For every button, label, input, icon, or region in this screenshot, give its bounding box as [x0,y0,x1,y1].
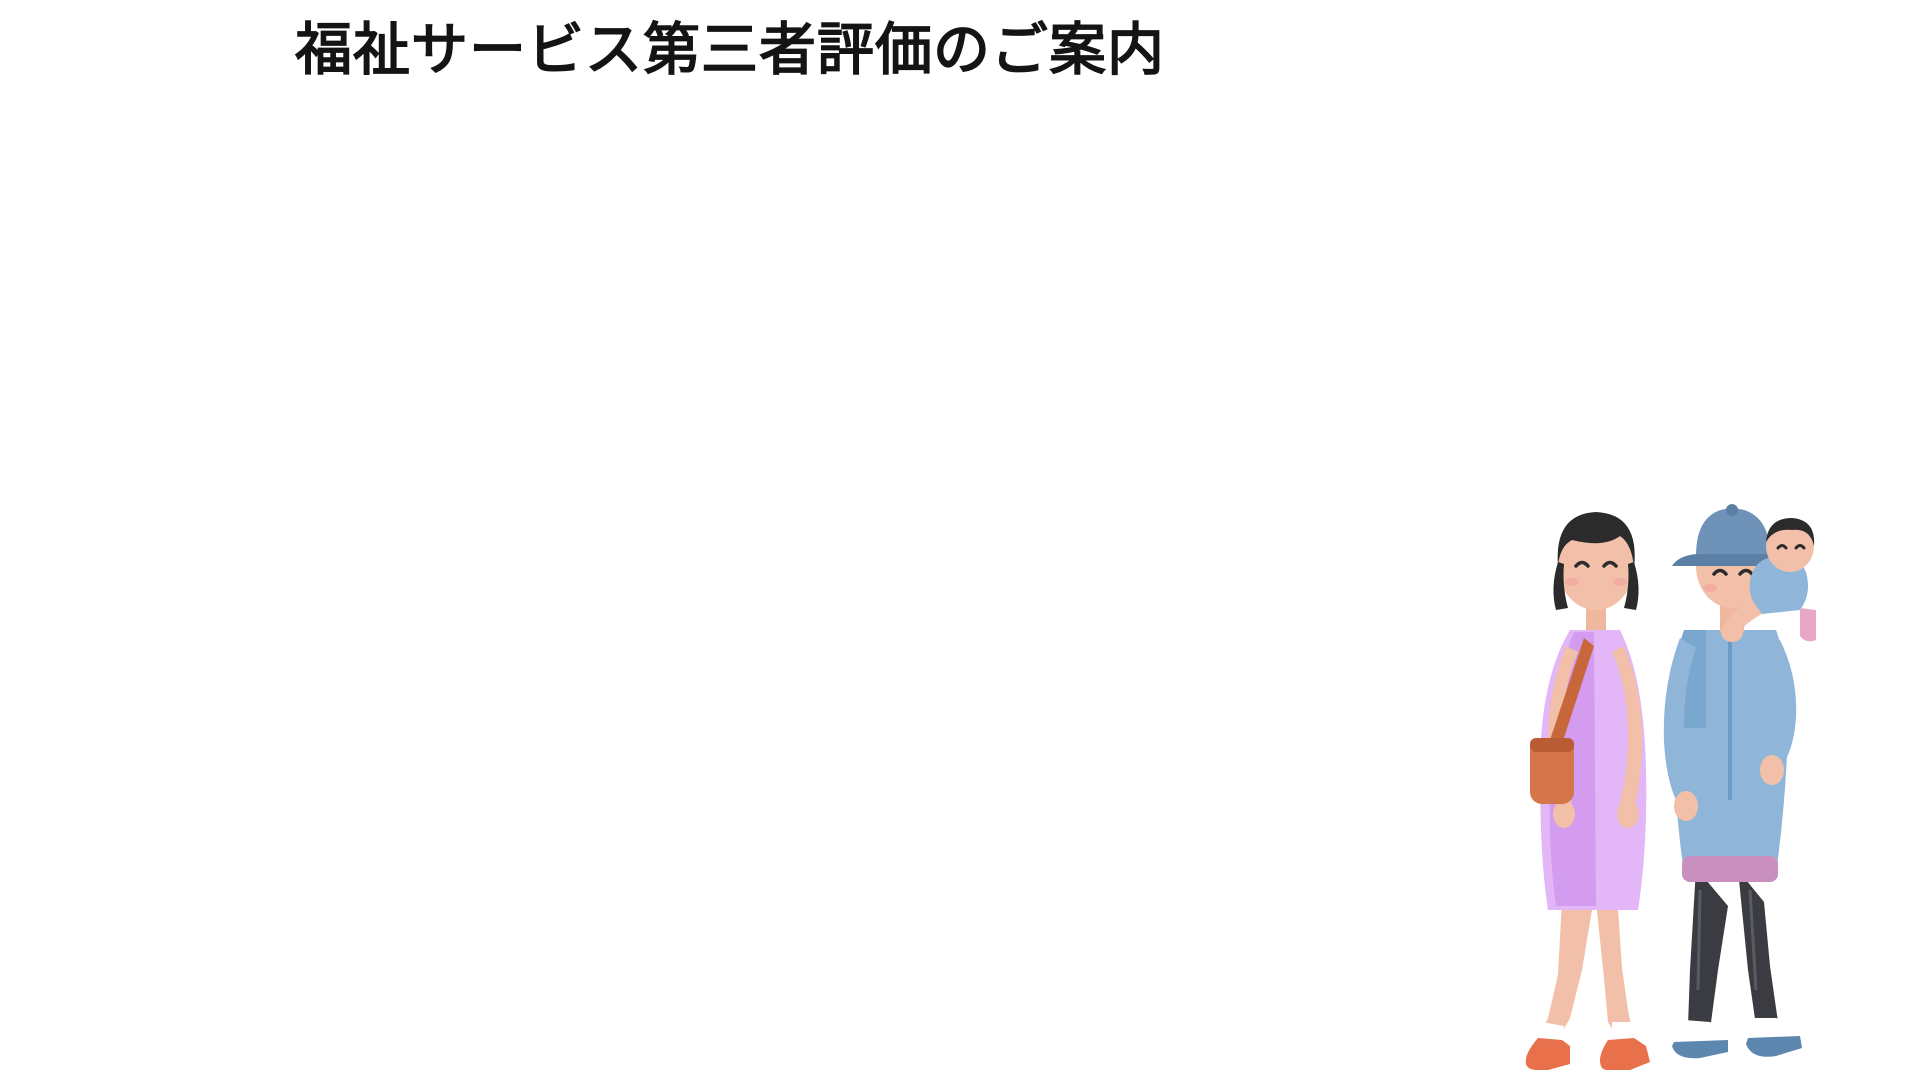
company-name: 株式会社フィールズ [56,1029,236,1056]
poster-root: 福祉サービス第三者評価のご案内 [0,0,1920,1080]
page-title: 福祉サービス第三者評価のご案内 [0,18,1460,84]
family-walking-illustration [1500,470,1840,1070]
footer-bar: 株式会社フィールズ [0,1004,1920,1080]
